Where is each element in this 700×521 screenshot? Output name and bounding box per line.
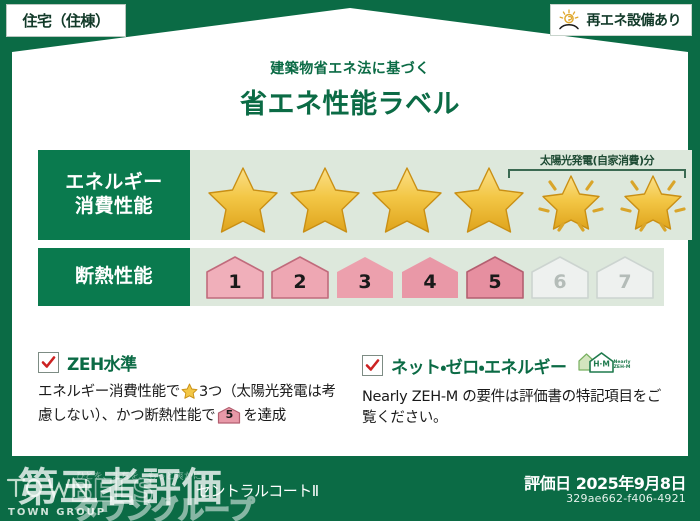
label-notes: ZEH水準 エネルギー消費性能で3つ（太陽光発電は考慮しない）、かつ断熱性能で5… bbox=[38, 350, 666, 429]
insulation-levels: 1 2 3 4 5 bbox=[190, 254, 656, 300]
energy-consumption-label: エネルギー 消費性能 bbox=[38, 150, 190, 240]
town-group-logo-watermark: TOWN GROUP bbox=[4, 466, 130, 519]
inline-house-value: 5 bbox=[217, 406, 241, 424]
net-zero-energy-text: Nearly ZEH-M の要件は評価書の特記項目をご覧ください。 bbox=[362, 387, 666, 429]
zeh-text-c: を達成 bbox=[243, 408, 286, 424]
insulation-level-value: 5 bbox=[488, 273, 501, 300]
zeh-standard-title: ZEH水準 bbox=[67, 350, 137, 375]
inline-house-badge-icon: 5 bbox=[217, 406, 241, 424]
insulation-level-badge: 4 bbox=[399, 254, 461, 300]
energy-consumption-row: エネルギー 消費性能 bbox=[38, 150, 664, 240]
zeh-m-logo-main: H·M bbox=[593, 360, 610, 369]
net-zero-energy-note: ネット・ゼロ・エネルギー H·M Nearly ZEH-M Nearly ZEH… bbox=[362, 350, 666, 429]
net-zero-energy-header: ネット・ゼロ・エネルギー H·M Nearly ZEH-M bbox=[362, 350, 666, 380]
insulation-level-value: 7 bbox=[618, 273, 631, 300]
zeh-m-logo-sub2: ZEH-M bbox=[613, 364, 630, 370]
zeh-text-a: エネルギー消費性能で bbox=[38, 384, 180, 400]
evaluation-date-value: 2025年9月8日 bbox=[576, 474, 686, 493]
evaluation-id: 329ae662-f406-4921 bbox=[566, 492, 686, 505]
insulation-level-badge: 5 bbox=[464, 254, 526, 300]
zeh-standard-header: ZEH水準 bbox=[38, 350, 342, 375]
insulation-label: 断熱性能 bbox=[38, 248, 190, 306]
heading-subtitle: 建築物省エネ法に基づく bbox=[0, 58, 700, 78]
insulation-row: 断熱性能 1 2 3 bbox=[38, 248, 664, 306]
star-filled-icon bbox=[368, 162, 446, 236]
insulation-level-badge: 1 bbox=[204, 254, 266, 300]
energy-performance-label: 住宅（住棟） 再エネ設備あり 建築物省エネ法に基づく 省エネ性能ラベル bbox=[0, 0, 700, 521]
evaluation-date-label: 評価日 bbox=[524, 474, 571, 493]
house-type-tab: 住宅（住棟） bbox=[6, 4, 126, 37]
zeh-m-logo-icon: H·M Nearly ZEH-M bbox=[577, 350, 635, 380]
town-group-mark-icon bbox=[4, 466, 124, 500]
net-zero-energy-title: ネット・ゼロ・エネルギー bbox=[391, 353, 567, 378]
insulation-level-value: 4 bbox=[423, 273, 436, 300]
zeh-standard-text: エネルギー消費性能で3つ（太陽光発電は考慮しない）、かつ断熱性能で5を達成 bbox=[38, 382, 342, 427]
property-name: セントラルコートⅡ bbox=[196, 480, 319, 501]
renewable-energy-label: 再エネ設備あり bbox=[587, 10, 682, 30]
inline-star-icon bbox=[181, 387, 198, 403]
town-group-text: TOWN GROUP bbox=[4, 507, 106, 518]
insulation-level-badge: 3 bbox=[334, 254, 396, 300]
solar-bracket bbox=[508, 169, 686, 178]
zeh-star-count: 3つ（太陽光発電 bbox=[199, 384, 307, 400]
star-filled-icon bbox=[204, 162, 282, 236]
solar-generation-note: 太陽光発電(自家消費)分 bbox=[508, 152, 686, 178]
energy-consumption-scale: 太陽光発電(自家消費)分 bbox=[190, 150, 692, 240]
insulation-level-value: 6 bbox=[553, 273, 566, 300]
insulation-scale: 1 2 3 4 5 bbox=[190, 248, 664, 306]
insulation-level-badge-inactive: 7 bbox=[594, 254, 656, 300]
heading-title: 省エネ性能ラベル bbox=[0, 82, 700, 121]
solar-sun-icon bbox=[557, 9, 581, 31]
insulation-level-value: 3 bbox=[358, 273, 371, 300]
energy-label-line1: エネルギー bbox=[65, 171, 163, 195]
checkmark-icon bbox=[362, 355, 383, 376]
insulation-label-text: 断熱性能 bbox=[75, 265, 153, 289]
insulation-level-value: 2 bbox=[293, 273, 306, 300]
insulation-level-value: 1 bbox=[228, 273, 241, 300]
solar-note-text: 太陽光発電(自家消費)分 bbox=[508, 152, 686, 168]
checkmark-icon bbox=[38, 352, 59, 373]
label-heading: 建築物省エネ法に基づく 省エネ性能ラベル bbox=[0, 58, 700, 121]
zeh-standard-note: ZEH水準 エネルギー消費性能で3つ（太陽光発電は考慮しない）、かつ断熱性能で5… bbox=[38, 350, 342, 429]
rating-rows: エネルギー 消費性能 bbox=[38, 150, 664, 306]
house-type-label: 住宅（住棟） bbox=[22, 10, 109, 31]
star-filled-icon bbox=[286, 162, 364, 236]
evaluation-date: 評価日 2025年9月8日 bbox=[524, 470, 686, 494]
insulation-level-badge-inactive: 6 bbox=[529, 254, 591, 300]
renewable-energy-badge: 再エネ設備あり bbox=[550, 4, 693, 36]
energy-label-line2: 消費性能 bbox=[75, 195, 153, 219]
insulation-level-badge: 2 bbox=[269, 254, 331, 300]
